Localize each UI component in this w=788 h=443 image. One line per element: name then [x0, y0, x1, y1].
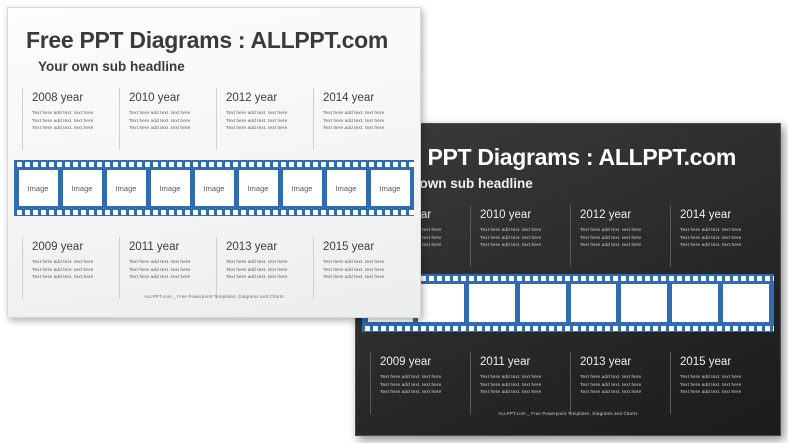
year-body-line: Text here add text. text here	[680, 241, 770, 249]
sprocket-hole	[177, 210, 182, 215]
sprocket-hole	[209, 210, 214, 215]
filmstrip-frame[interactable]	[418, 284, 464, 322]
sprocket-hole	[533, 326, 538, 331]
sprocket-hole	[469, 326, 474, 331]
sprocket-hole	[557, 326, 562, 331]
sprocket-hole	[217, 162, 222, 167]
sprocket-hole	[409, 162, 414, 167]
year-column[interactable]: 2015 yearText here add text. text hereTe…	[670, 356, 770, 396]
sprocket-hole	[161, 210, 166, 215]
sprocket-hole	[249, 210, 254, 215]
year-body-line: Text here add text. text here	[129, 124, 216, 132]
year-body-line: Text here add text. text here	[480, 234, 570, 242]
sprocket-hole	[17, 210, 22, 215]
sprocket-hole	[73, 162, 78, 167]
year-body-line: Text here add text. text here	[480, 381, 570, 389]
sprocket-hole	[185, 210, 190, 215]
year-body-line: Text here add text. text here	[323, 124, 410, 132]
sprocket-hole	[541, 326, 546, 331]
sprocket-hole	[661, 326, 666, 331]
sprocket-hole	[693, 276, 698, 281]
year-body-line: Text here add text. text here	[129, 109, 216, 117]
sprocket-hole	[73, 210, 78, 215]
sprocket-hole	[41, 210, 46, 215]
year-body-line: Text here add text. text here	[580, 226, 670, 234]
sprocket-hole	[589, 276, 594, 281]
sprocket-hole	[741, 276, 746, 281]
sprocket-hole	[581, 276, 586, 281]
sprocket-hole	[389, 326, 394, 331]
year-label: 2014 year	[680, 209, 770, 221]
sprocket-hole	[653, 326, 658, 331]
year-body-line: Text here add text. text here	[580, 241, 670, 249]
filmstrip-frame[interactable]: Image	[107, 170, 146, 206]
year-body-line: Text here add text. text here	[226, 117, 313, 125]
sprocket-hole	[485, 326, 490, 331]
sprocket-hole	[145, 162, 150, 167]
sprocket-hole	[113, 162, 118, 167]
year-body-line: Text here add text. text here	[580, 373, 670, 381]
filmstrip-frame[interactable]	[723, 284, 769, 322]
filmstrip-frame[interactable]: Image	[195, 170, 234, 206]
sprocket-hole	[129, 162, 134, 167]
year-column[interactable]: 2011 yearText here add text. text hereTe…	[119, 241, 216, 281]
year-column[interactable]: 2012 yearText here add text. text hereTe…	[216, 92, 313, 132]
sprocket-hole	[629, 326, 634, 331]
sprocket-hole	[421, 276, 426, 281]
year-label: 2009 year	[380, 356, 470, 368]
year-label: 2012 year	[580, 209, 670, 221]
sprocket-hole	[701, 276, 706, 281]
sprocket-hole	[605, 276, 610, 281]
sprocket-hole	[485, 276, 490, 281]
slide-footer: ALLPPT.com _ Free Powerpoint Templates, …	[8, 294, 420, 299]
year-body-line: Text here add text. text here	[680, 226, 770, 234]
filmstrip-frame[interactable]: Image	[63, 170, 102, 206]
sprocket-hole	[541, 276, 546, 281]
filmstrip-frame[interactable]	[672, 284, 718, 322]
year-label: 2010 year	[129, 92, 216, 104]
year-column[interactable]: 2013 yearText here add text. text hereTe…	[570, 356, 670, 396]
year-body-line: Text here add text. text here	[580, 234, 670, 242]
sprocket-hole	[161, 162, 166, 167]
sprocket-hole	[597, 326, 602, 331]
year-body-line: Text here add text. text here	[129, 266, 216, 274]
sprocket-hole	[773, 326, 774, 331]
sprocket-hole	[461, 326, 466, 331]
sprocket-hole	[573, 276, 578, 281]
sprocket-hole	[225, 162, 230, 167]
filmstrip-frame[interactable]: Image	[327, 170, 366, 206]
sprocket-hole	[725, 276, 730, 281]
sprocket-hole	[525, 276, 530, 281]
sprocket-hole	[749, 276, 754, 281]
sprocket-hole	[749, 326, 754, 331]
sprocket-hole	[645, 276, 650, 281]
sprocket-hole	[273, 210, 278, 215]
filmstrip-frames[interactable]: ImageImageImageImageImageImageImageImage…	[14, 168, 414, 208]
slide-title: Free PPT Diagrams : ALLPPT.com	[374, 144, 736, 171]
sprocket-hole	[377, 210, 382, 215]
slide-light[interactable]: Free PPT Diagrams : ALLPPT.com Your own …	[7, 7, 421, 318]
sprocket-hole	[321, 210, 326, 215]
sprocket-hole	[249, 162, 254, 167]
year-body-line: Text here add text. text here	[380, 381, 470, 389]
sprocket-hole	[645, 326, 650, 331]
year-body-line: Text here add text. text here	[323, 258, 410, 266]
sprocket-hole	[17, 162, 22, 167]
sprocket-hole	[517, 276, 522, 281]
year-body-line: Text here add text. text here	[580, 381, 670, 389]
year-label: 2015 year	[680, 356, 770, 368]
sprocket-hole	[273, 162, 278, 167]
sprocket-hole	[401, 162, 406, 167]
sprocket-hole	[613, 326, 618, 331]
sprocket-hole	[385, 162, 390, 167]
sprocket-hole	[81, 162, 86, 167]
year-label: 2011 year	[480, 356, 570, 368]
sprocket-hole	[233, 210, 238, 215]
sprocket-hole	[685, 326, 690, 331]
sprocket-hole	[757, 326, 762, 331]
year-body-line: Text here add text. text here	[480, 373, 570, 381]
sprocket-hole	[289, 162, 294, 167]
sprocket-hole	[477, 326, 482, 331]
sprocket-hole	[33, 162, 38, 167]
sprocket-hole	[661, 276, 666, 281]
year-label: 2009 year	[32, 241, 119, 253]
year-body-line: Text here add text. text here	[680, 381, 770, 389]
sprocket-hole	[693, 326, 698, 331]
year-body-line: Text here add text. text here	[323, 109, 410, 117]
sprocket-hole	[201, 210, 206, 215]
sprocket-hole	[733, 326, 738, 331]
sprocket-hole	[565, 276, 570, 281]
year-column[interactable]: 2010 yearText here add text. text hereTe…	[119, 92, 216, 132]
year-body-line: Text here add text. text here	[226, 258, 313, 266]
year-row-bottom: 2009 yearText here add text. text hereTe…	[370, 356, 770, 396]
sprocket-hole	[573, 326, 578, 331]
sprocket-hole	[709, 326, 714, 331]
year-body-line: Text here add text. text here	[226, 124, 313, 132]
filmstrip[interactable]	[362, 274, 774, 332]
filmstrip[interactable]: ImageImageImageImageImageImageImageImage…	[14, 160, 414, 216]
sprocket-hole	[313, 162, 318, 167]
sprocket-hole	[637, 276, 642, 281]
sprocket-hole	[113, 210, 118, 215]
year-column[interactable]: 2013 yearText here add text. text hereTe…	[216, 241, 313, 281]
sprocket-hole	[97, 210, 102, 215]
year-column[interactable]: 2009 yearText here add text. text hereTe…	[22, 241, 119, 281]
year-body-line: Text here add text. text here	[380, 373, 470, 381]
slide-title: Free PPT Diagrams : ALLPPT.com	[26, 27, 388, 54]
sprocket-hole	[129, 210, 134, 215]
sprocket-hole	[637, 326, 642, 331]
sprocket-hole	[289, 210, 294, 215]
sprocket-hole	[421, 326, 426, 331]
year-column[interactable]: 2010 yearText here add text. text hereTe…	[470, 209, 570, 249]
sprocket-hole	[305, 162, 310, 167]
sprocket-hole	[549, 276, 554, 281]
sprocket-hole	[337, 210, 342, 215]
year-body-line: Text here add text. text here	[129, 273, 216, 281]
year-body-line: Text here add text. text here	[380, 388, 470, 396]
sprocket-hole	[281, 162, 286, 167]
sprocket-hole	[337, 162, 342, 167]
sprocket-hole	[533, 276, 538, 281]
sprocket-hole	[469, 276, 474, 281]
sprocket-hole	[281, 210, 286, 215]
year-body-line: Text here add text. text here	[226, 109, 313, 117]
sprocket-hole	[677, 326, 682, 331]
sprocket-hole	[353, 162, 358, 167]
filmstrip-frame[interactable]	[469, 284, 515, 322]
sprocket-hole	[701, 326, 706, 331]
year-body-line: Text here add text. text here	[323, 273, 410, 281]
filmstrip-frame[interactable]: Image	[19, 170, 58, 206]
filmstrip-frame[interactable]: Image	[239, 170, 278, 206]
sprocket-hole	[461, 276, 466, 281]
sprocket-hole	[361, 210, 366, 215]
sprocket-hole	[605, 326, 610, 331]
sprocket-hole	[57, 162, 62, 167]
sprocket-hole	[137, 162, 142, 167]
sprocket-hole	[629, 276, 634, 281]
year-row-top: 2008 yearText here add text. text hereTe…	[370, 209, 770, 249]
year-body-line: Text here add text. text here	[226, 266, 313, 274]
sprocket-hole	[409, 210, 414, 215]
sprocket-hole	[105, 210, 110, 215]
year-label: 2011 year	[129, 241, 216, 253]
sprocket-hole	[757, 276, 762, 281]
sprocket-hole	[33, 210, 38, 215]
sprocket-hole	[445, 276, 450, 281]
sprocket-hole	[49, 162, 54, 167]
sprocket-hole	[669, 276, 674, 281]
sprocket-hole	[137, 210, 142, 215]
filmstrip-frame[interactable]: Image	[371, 170, 410, 206]
sprocket-hole	[397, 326, 402, 331]
filmstrip-frame[interactable]	[520, 284, 566, 322]
sprocket-hole	[653, 276, 658, 281]
sprocket-hole	[445, 326, 450, 331]
sprocket-hole	[49, 210, 54, 215]
sprocket-hole	[321, 162, 326, 167]
sprocket-hole	[265, 162, 270, 167]
sprocket-hole	[717, 276, 722, 281]
sprocket-hole	[669, 326, 674, 331]
sprocket-hole	[41, 162, 46, 167]
sprocket-hole	[89, 162, 94, 167]
year-body-line: Text here add text. text here	[32, 109, 119, 117]
sprocket-hole	[313, 210, 318, 215]
sprocket-hole	[377, 162, 382, 167]
sprocket-hole	[353, 210, 358, 215]
sprocket-hole	[193, 162, 198, 167]
sprocket-hole	[241, 162, 246, 167]
sprocket-hole	[81, 210, 86, 215]
sprocket-hole	[509, 276, 514, 281]
sprocket-hole	[369, 162, 374, 167]
year-column[interactable]: 2015 yearText here add text. text hereTe…	[313, 241, 410, 281]
sprocket-hole	[385, 210, 390, 215]
sprocket-hole	[773, 276, 774, 281]
sprocket-hole	[57, 210, 62, 215]
sprocket-hole	[393, 162, 398, 167]
year-label: 2014 year	[323, 92, 410, 104]
sprocket-hole	[361, 162, 366, 167]
sprocket-hole	[557, 276, 562, 281]
slide-footer: ALLPPT.com _ Free Powerpoint Templates, …	[356, 411, 780, 416]
sprocket-hole	[177, 162, 182, 167]
sprocket-hole	[185, 162, 190, 167]
sprocket-hole	[329, 162, 334, 167]
year-body-line: Text here add text. text here	[129, 117, 216, 125]
sprocket-hole	[121, 210, 126, 215]
sprocket-hole	[613, 276, 618, 281]
year-label: 2013 year	[580, 356, 670, 368]
year-body-line: Text here add text. text here	[323, 117, 410, 125]
sprocket-hole	[437, 326, 442, 331]
sprocket-hole	[493, 276, 498, 281]
sprocket-hole	[765, 326, 770, 331]
year-body-line: Text here add text. text here	[480, 226, 570, 234]
sprocket-hole	[597, 276, 602, 281]
sprocket-hole	[329, 210, 334, 215]
sprocket-hole	[297, 210, 302, 215]
sprocket-hole	[233, 162, 238, 167]
sprocket-hole	[25, 162, 30, 167]
year-label: 2008 year	[32, 92, 119, 104]
sprocket-hole	[677, 276, 682, 281]
year-body-line: Text here add text. text here	[32, 258, 119, 266]
year-label: 2015 year	[323, 241, 410, 253]
sprocket-hole	[365, 326, 370, 331]
year-body-line: Text here add text. text here	[580, 388, 670, 396]
sprocket-hole	[733, 276, 738, 281]
year-label: 2013 year	[226, 241, 313, 253]
sprocket-hole	[169, 210, 174, 215]
filmstrip-frame[interactable]: Image	[151, 170, 190, 206]
filmstrip-perforations-bottom	[362, 324, 774, 332]
year-body-line: Text here add text. text here	[32, 117, 119, 125]
sprocket-hole	[501, 326, 506, 331]
year-column[interactable]: 2011 yearText here add text. text hereTe…	[470, 356, 570, 396]
year-column[interactable]: 2009 yearText here add text. text hereTe…	[370, 356, 470, 396]
sprocket-hole	[405, 326, 410, 331]
sprocket-hole	[741, 326, 746, 331]
sprocket-hole	[121, 162, 126, 167]
sprocket-hole	[153, 210, 158, 215]
sprocket-hole	[381, 326, 386, 331]
sprocket-hole	[25, 210, 30, 215]
sprocket-hole	[413, 326, 418, 331]
filmstrip-perforations-top	[362, 274, 774, 282]
sprocket-hole	[549, 326, 554, 331]
sprocket-hole	[429, 276, 434, 281]
year-row-bottom: 2009 yearText here add text. text hereTe…	[22, 241, 410, 281]
sprocket-hole	[589, 326, 594, 331]
sprocket-hole	[725, 326, 730, 331]
sprocket-hole	[345, 162, 350, 167]
filmstrip-perforations-top	[14, 160, 414, 168]
sprocket-hole	[305, 210, 310, 215]
year-label: 2012 year	[226, 92, 313, 104]
sprocket-hole	[65, 210, 70, 215]
sprocket-hole	[429, 326, 434, 331]
year-column[interactable]: 2012 yearText here add text. text hereTe…	[570, 209, 670, 249]
sprocket-hole	[401, 210, 406, 215]
year-column[interactable]: 2014 yearText here add text. text hereTe…	[313, 92, 410, 132]
sprocket-hole	[345, 210, 350, 215]
year-body-line: Text here add text. text here	[680, 234, 770, 242]
year-body-line: Text here add text. text here	[129, 258, 216, 266]
sprocket-hole	[153, 162, 158, 167]
sprocket-hole	[169, 162, 174, 167]
sprocket-hole	[717, 326, 722, 331]
year-body-line: Text here add text. text here	[226, 273, 313, 281]
filmstrip-frame[interactable]	[621, 284, 667, 322]
sprocket-hole	[621, 326, 626, 331]
sprocket-hole	[709, 276, 714, 281]
year-body-line: Text here add text. text here	[680, 388, 770, 396]
sprocket-hole	[241, 210, 246, 215]
sprocket-hole	[501, 276, 506, 281]
year-column[interactable]: 2008 yearText here add text. text hereTe…	[22, 92, 119, 132]
year-body-line: Text here add text. text here	[32, 273, 119, 281]
sprocket-hole	[257, 162, 262, 167]
sprocket-hole	[257, 210, 262, 215]
year-label: 2010 year	[480, 209, 570, 221]
sprocket-hole	[685, 276, 690, 281]
year-body-line: Text here add text. text here	[32, 266, 119, 274]
sprocket-hole	[393, 210, 398, 215]
sprocket-hole	[517, 326, 522, 331]
sprocket-hole	[201, 162, 206, 167]
year-body-line: Text here add text. text here	[480, 388, 570, 396]
filmstrip-frame[interactable]: Image	[283, 170, 322, 206]
year-body-line: Text here add text. text here	[32, 124, 119, 132]
sprocket-hole	[265, 210, 270, 215]
sprocket-hole	[97, 162, 102, 167]
year-row-top: 2008 yearText here add text. text hereTe…	[22, 92, 410, 132]
sprocket-hole	[225, 210, 230, 215]
slide-subtitle: Your own sub headline	[38, 59, 185, 74]
year-body-line: Text here add text. text here	[323, 266, 410, 274]
filmstrip-frame[interactable]	[571, 284, 617, 322]
sprocket-hole	[193, 210, 198, 215]
sprocket-hole	[105, 162, 110, 167]
sprocket-hole	[509, 326, 514, 331]
sprocket-hole	[493, 326, 498, 331]
sprocket-hole	[581, 326, 586, 331]
year-column[interactable]: 2014 yearText here add text. text hereTe…	[670, 209, 770, 249]
sprocket-hole	[477, 276, 482, 281]
filmstrip-frames[interactable]	[362, 282, 774, 324]
sprocket-hole	[89, 210, 94, 215]
sprocket-hole	[437, 276, 442, 281]
sprocket-hole	[145, 210, 150, 215]
sprocket-hole	[65, 162, 70, 167]
sprocket-hole	[565, 326, 570, 331]
sprocket-hole	[209, 162, 214, 167]
sprocket-hole	[217, 210, 222, 215]
sprocket-hole	[453, 276, 458, 281]
year-body-line: Text here add text. text here	[480, 241, 570, 249]
sprocket-hole	[525, 326, 530, 331]
sprocket-hole	[765, 276, 770, 281]
sprocket-hole	[621, 276, 626, 281]
